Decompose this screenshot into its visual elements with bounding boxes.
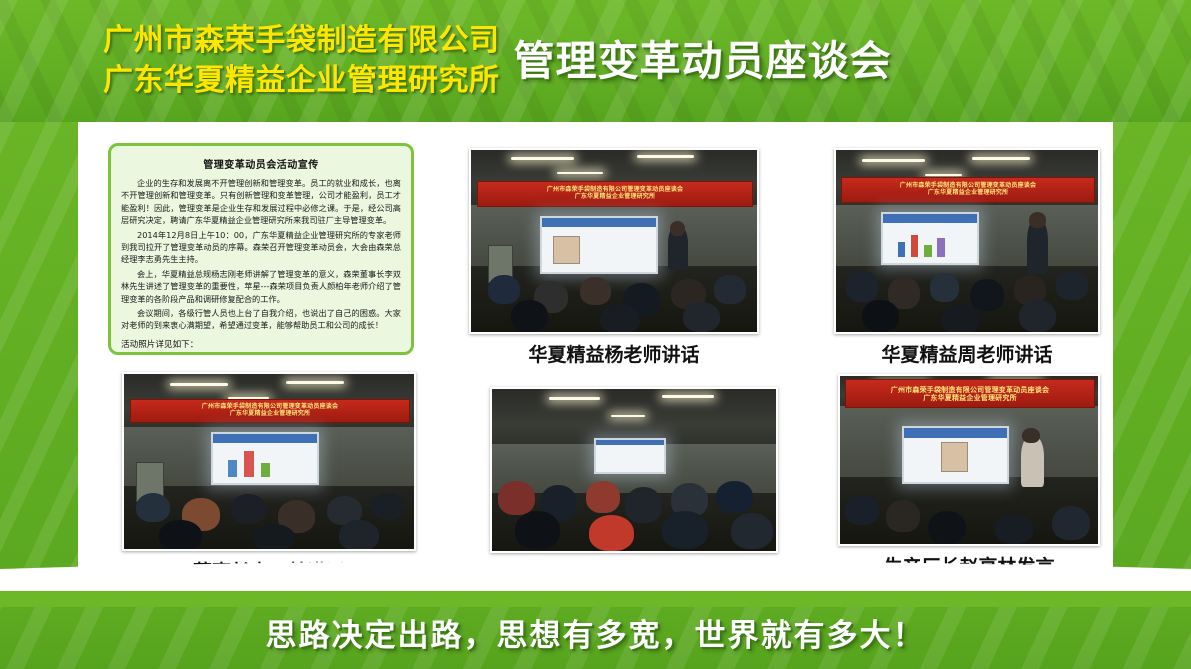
- left-green-edge: [0, 122, 78, 602]
- photo-chairman: 广州市森荣手袋制造有限公司管理变革动员座谈会 广东华夏精益企业管理研究所: [122, 372, 416, 551]
- footer-slogan: 思路决定出路，思想有多宽，世界就有多大！: [0, 610, 1191, 655]
- footer-curve-white: [0, 541, 1191, 591]
- photo-factory-director: 广州市森荣手袋制造有限公司管理变革动员座谈会 广东华夏精益企业管理研究所 生产厂…: [838, 374, 1100, 546]
- photo-banner-line2-factory-director: 广东华夏精益企业管理研究所: [923, 394, 1017, 402]
- photo-banner-line2-zhou: 广东华夏精益企业管理研究所: [928, 190, 1009, 197]
- photo-red-banner-chairman: 广州市森荣手袋制造有限公司管理变革动员座谈会 广东华夏精益企业管理研究所: [130, 399, 410, 424]
- photo-image-chairman: 广州市森荣手袋制造有限公司管理变革动员座谈会 广东华夏精益企业管理研究所: [122, 372, 416, 551]
- photo-red-banner-zhou: 广州市森荣手袋制造有限公司管理变革动员座谈会 广东华夏精益企业管理研究所: [841, 177, 1095, 203]
- photo-banner-line1-factory-director: 广州市森荣手袋制造有限公司管理变革动员座谈会: [891, 386, 1049, 394]
- photo-image-general-manager: [490, 387, 778, 553]
- audience-zhou: [836, 237, 1098, 332]
- text-panel-title: 管理变革动员会活动宣传: [121, 156, 401, 171]
- text-panel-paragraph-4: 会议期间，各级行管人员也上台了自我介绍，也说出了自己的困惑。大家对老师的到来衷心…: [121, 307, 401, 332]
- photo-red-banner-factory-director: 广州市森荣手袋制造有限公司管理变革动员座谈会 广东华夏精益企业管理研究所: [845, 379, 1095, 408]
- photo-red-banner-yang: 广州市森荣手袋制造有限公司管理变革动员座谈会 广东华夏精益企业管理研究所: [477, 181, 754, 207]
- photo-caption-zhou-teacher: 华夏精益周老师讲话: [804, 334, 1130, 367]
- text-panel-paragraph-2: 2014年12月8日上午10：00，广东华夏精益企业管理研究所的专家老师到我司拉…: [121, 229, 401, 266]
- audience-general-manager: [492, 451, 776, 551]
- company-name-line2: 广东华夏精益企业管理研究所: [103, 61, 500, 101]
- photo-zhou-teacher: 广州市森荣手袋制造有限公司管理变革动员座谈会 广东华夏精益企业管理研究所: [834, 148, 1100, 334]
- photo-image-factory-director: 广州市森荣手袋制造有限公司管理变革动员座谈会 广东华夏精益企业管理研究所: [838, 374, 1100, 546]
- audience-chairman: [124, 458, 414, 549]
- audience-factory-director: [840, 457, 1098, 544]
- photo-image-zhou-teacher: 广州市森荣手袋制造有限公司管理变革动员座谈会 广东华夏精益企业管理研究所: [834, 148, 1100, 334]
- photo-general-manager: 总经理李志勇讲话: [490, 387, 778, 553]
- poster-canvas: 广州市森荣手袋制造有限公司 广东华夏精益企业管理研究所 管理变革动员座谈会 管理…: [0, 0, 1191, 669]
- meeting-title: 管理变革动员座谈会: [514, 37, 892, 85]
- text-panel-paragraph-3: 会上，华夏精益总规杨志刚老师讲解了管理变革的意义，森荣董事长李双林先生讲述了管理…: [121, 268, 401, 305]
- photo-banner-line2-chairman: 广东华夏精益企业管理研究所: [230, 411, 311, 418]
- photo-yang-teacher: 广州市森荣手袋制造有限公司管理变革动员座谈会 广东华夏精益企业管理研究所: [469, 148, 759, 334]
- photo-caption-yang-teacher: 华夏精益杨老师讲话: [439, 334, 789, 367]
- company-names: 广州市森荣手袋制造有限公司 广东华夏精益企业管理研究所: [103, 21, 500, 101]
- audience-yang: [471, 237, 757, 332]
- company-name-line1: 广州市森荣手袋制造有限公司: [103, 21, 500, 61]
- photo-banner-line2-yang: 广东华夏精益企业管理研究所: [575, 194, 656, 201]
- activity-text-panel: 管理变革动员会活动宣传 企业的生存和发展离不开管理创新和管理变革。员工的就业和成…: [108, 143, 414, 355]
- text-panel-note: 活动照片详见如下：: [121, 339, 401, 352]
- text-panel-paragraph-1: 企业的生存和发展离不开管理创新和管理变革。员工的就业和成长，也离不开管理创新和管…: [121, 177, 401, 227]
- header-banner: 广州市森荣手袋制造有限公司 广东华夏精益企业管理研究所 管理变革动员座谈会: [0, 0, 1191, 122]
- photo-image-yang-teacher: 广州市森荣手袋制造有限公司管理变革动员座谈会 广东华夏精益企业管理研究所: [469, 148, 759, 334]
